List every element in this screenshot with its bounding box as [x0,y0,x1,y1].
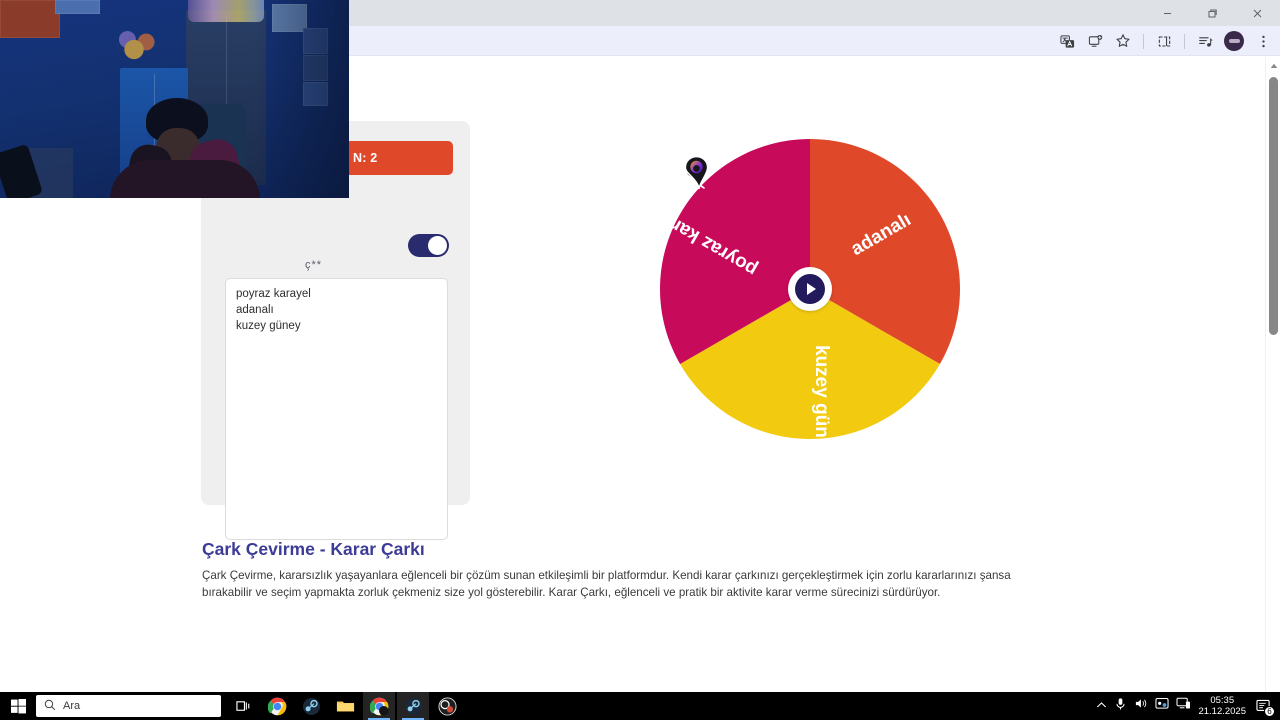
file-explorer-taskbar-icon[interactable] [329,692,361,720]
clock-time: 05:35 [1210,695,1234,706]
chrome-taskbar-icon[interactable] [261,692,293,720]
system-tray: 05:35 21.12.2025 6 [1096,695,1280,717]
screen: N: 2 ç** poyraz karayel adanalı kuzey gü… [0,0,1280,720]
taskbar-apps [227,692,463,720]
search-placeholder: Ara [63,700,80,712]
steam-taskbar-icon[interactable] [295,692,327,720]
taskbar-search[interactable]: Ara [36,695,221,717]
task-view-icon[interactable] [227,692,259,720]
webcam-overlay [0,0,349,198]
wheel-label-kuzey-guney: kuzey gün... [811,345,832,443]
spin-button[interactable] [788,267,832,311]
clock-date: 21.12.2025 [1198,706,1246,717]
page-title: Çark Çevirme - Karar Çarkı [202,539,425,560]
plush-toys [188,0,264,22]
wheel-entries-textarea[interactable]: poyraz karayel adanalı kuzey güney [225,278,448,540]
page-scrollbar[interactable] [1265,57,1280,692]
steam-active-taskbar-icon[interactable] [397,692,429,720]
toolbar-divider-1 [1143,34,1144,49]
taskbar: Ara [0,692,1280,720]
network-display-icon[interactable] [1176,697,1191,715]
minimize-button[interactable] [1145,0,1190,26]
scrollbar-thumb[interactable] [1269,77,1278,335]
scroll-up-icon[interactable] [1266,59,1280,73]
side-panel-icon[interactable] [1151,28,1177,54]
window-controls [1145,0,1280,26]
notification-count: 6 [1264,706,1275,717]
bookmark-star-icon[interactable] [1110,28,1136,54]
tray-app-icon[interactable] [1155,697,1169,715]
list-item: kuzey güney [236,319,437,335]
desk-toys [112,22,167,72]
tray-clock[interactable]: 05:35 21.12.2025 [1198,695,1246,717]
microphone-icon[interactable] [1114,697,1127,716]
obs-taskbar-icon[interactable] [431,692,463,720]
list-item: poyraz karayel [236,287,437,303]
wheel-pointer [682,155,716,195]
install-app-icon[interactable] [1082,28,1108,54]
search-icon [44,699,56,714]
room-shadow [254,0,349,198]
toolbar-actions [1054,26,1276,56]
list-item: adanalı [236,303,437,319]
page-description: Çark Çevirme, kararsızlık yaşayanlara eğ… [202,567,1026,601]
svg-text:kuzey gün...: kuzey gün... [811,345,832,443]
chrome-active-taskbar-icon[interactable] [363,692,395,720]
profile-avatar[interactable] [1224,31,1244,51]
streamer-body [110,160,260,198]
volume-icon[interactable] [1134,697,1148,715]
play-icon [795,274,825,304]
close-button[interactable] [1235,0,1280,26]
wall-poster [0,0,60,38]
decision-wheel[interactable]: adanalı kuzey gün... poyraz kar... [656,135,964,443]
notification-center-icon[interactable]: 6 [1253,696,1273,716]
reading-list-icon[interactable] [1192,28,1218,54]
toggle-knob [428,236,447,255]
toolbar-divider-2 [1184,34,1185,49]
start-button[interactable] [0,692,36,720]
remove-winner-toggle[interactable] [408,234,449,257]
chrome-menu-icon[interactable] [1250,28,1276,54]
tray-chevron-up-icon[interactable] [1096,697,1107,715]
wall-poster [55,0,100,14]
card-subtitle: ç** [305,259,322,271]
restore-button[interactable] [1190,0,1235,26]
translate-icon[interactable] [1054,28,1080,54]
